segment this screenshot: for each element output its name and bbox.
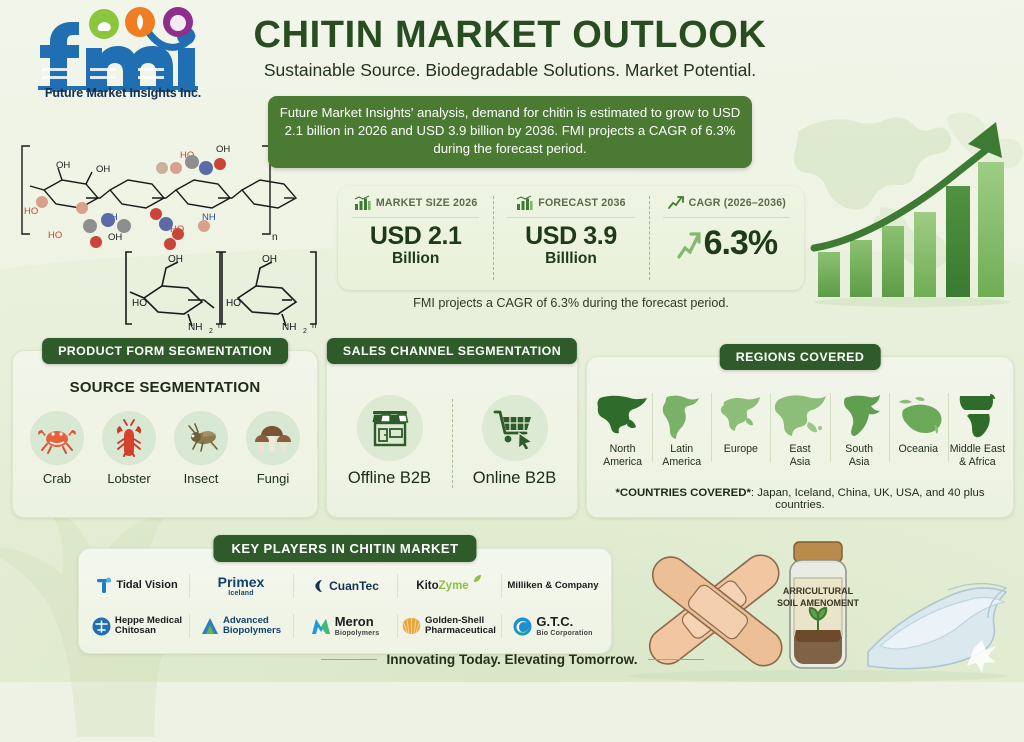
player-name: Heppe Medical Chitosan: [115, 616, 182, 637]
region-map-wrap: [594, 391, 651, 441]
source-list: Crab Lobster: [13, 411, 317, 486]
chart-bars: [818, 162, 1004, 297]
region-label: EastAsia: [771, 443, 828, 468]
countries-covered-value: : Japan, Iceland, China, UK, USA, and 40…: [751, 487, 985, 511]
stat-value-group: 6.3%: [655, 224, 798, 263]
bottle-label-line1: ARRICULTURAL: [783, 586, 854, 596]
region-item-latin-america[interactable]: LatinAmerica: [652, 391, 711, 468]
svg-text:n: n: [272, 232, 278, 243]
region-map-wrap: [831, 391, 888, 441]
regions-list: NorthAmerica LatinAmerica Europe: [593, 391, 1007, 468]
stat-value: USD 3.9: [499, 224, 642, 250]
region-item-middle-east-africa[interactable]: Middle East& Africa: [948, 391, 1007, 468]
tagline-rule-right: [648, 659, 704, 660]
region-item-europe[interactable]: Europe: [711, 391, 770, 468]
svg-text:OH: OH: [216, 144, 230, 155]
mushroom-icon: [253, 420, 293, 456]
region-item-south-asia[interactable]: SouthAsia: [830, 391, 889, 468]
panel-title-regions: REGIONS COVERED: [720, 344, 881, 370]
source-label: Crab: [24, 471, 90, 486]
region-map-wrap: [890, 391, 947, 441]
company-name: Future Market Insights Inc.: [28, 86, 218, 100]
svg-text:OH: OH: [168, 254, 183, 265]
insect-icon: [181, 422, 221, 454]
source-icon-wrap: [174, 411, 228, 465]
stat-unit: Billlion: [499, 250, 642, 268]
stat-header: CAGR (2026–2036): [663, 195, 790, 218]
region-label: Middle East& Africa: [949, 443, 1006, 468]
region-map-wrap: [712, 391, 769, 441]
svg-text:OH: OH: [108, 232, 122, 243]
tidal-vision-logo-icon: [96, 577, 112, 595]
player-tidal-vision[interactable]: Tidal Vision: [85, 567, 189, 605]
south-asia-map-icon: [838, 392, 880, 440]
summary-banner: Future Market Insights' analysis, demand…: [268, 96, 752, 168]
player-name: G.T.C.: [536, 615, 592, 629]
trend-up-arrow-icon: [667, 195, 684, 211]
crab-icon: [37, 421, 77, 455]
svg-text:HO: HO: [24, 206, 38, 217]
countries-covered-label: *COUNTRIES COVERED*: [615, 487, 750, 499]
heppe-logo-icon: [92, 617, 111, 636]
stat-card-market-size: MARKET SIZE 2026 USD 2.1 Billion: [338, 186, 493, 290]
source-segmentation-heading: SOURCE SEGMENTATION: [13, 379, 317, 396]
region-item-north-america[interactable]: NorthAmerica: [593, 391, 652, 468]
source-item-crab[interactable]: Crab: [24, 411, 90, 486]
source-item-fungi[interactable]: Fungi: [240, 411, 306, 486]
page-subtitle: Sustainable Source. Biodegradable Soluti…: [230, 60, 790, 81]
oceania-map-icon: [893, 394, 943, 438]
player-name: Meron: [335, 615, 380, 629]
channel-label: Online B2B: [452, 469, 577, 488]
sales-channel-segmentation-panel: SALES CHANNEL SEGMENTATION Offline B2B: [326, 350, 578, 518]
player-name: Primex: [218, 575, 265, 590]
gtc-logo-icon: [513, 617, 532, 636]
channel-icon-wrap: [482, 395, 548, 461]
source-item-lobster[interactable]: Lobster: [96, 411, 162, 486]
players-row-2: Heppe Medical Chitosan Advanced Biopolym…: [85, 607, 605, 645]
svg-text:NH: NH: [282, 322, 296, 333]
player-sub: Iceland: [218, 590, 265, 597]
stat-card-forecast: FORECAST 2036 USD 3.9 Billlion: [493, 186, 648, 290]
player-cuantec[interactable]: CuanTec: [293, 567, 397, 605]
countries-covered-note: *COUNTRIES COVERED*: Japan, Iceland, Chi…: [595, 487, 1005, 511]
player-name: KitoZyme: [416, 580, 468, 592]
header: Future Market Insights Inc. CHITIN MARKE…: [0, 0, 1024, 108]
player-sub: Bio Corporation: [536, 630, 592, 637]
meron-logo-icon: [311, 618, 331, 635]
tagline-rule-left: [321, 659, 377, 660]
source-item-insect[interactable]: Insect: [168, 411, 234, 486]
stats-cards: MARKET SIZE 2026 USD 2.1 Billion FORECAS…: [338, 186, 804, 290]
svg-text:HO: HO: [226, 298, 241, 309]
source-icon-wrap: [30, 411, 84, 465]
latin-america-map-icon: [661, 392, 703, 440]
channel-label: Offline B2B: [327, 469, 452, 488]
svg-text:OH: OH: [56, 160, 70, 171]
region-item-east-asia[interactable]: EastAsia: [770, 391, 829, 468]
stats-note: FMI projects a CAGR of 6.3% during the f…: [338, 296, 804, 310]
cuantec-logo-icon: [311, 578, 325, 594]
growth-arrow-icon: [676, 227, 702, 261]
supplement-bottle-icon: ARRICULTURAL SOIL AMENOMENT: [777, 542, 860, 668]
player-name: Tidal Vision: [116, 580, 177, 592]
growth-bar-chart-illustration: [808, 112, 1016, 312]
player-heppe-medical-chitosan[interactable]: Heppe Medical Chitosan: [85, 607, 189, 645]
regions-covered-panel: REGIONS COVERED NorthAmerica LatinAmeric…: [586, 356, 1014, 518]
key-players-panel: KEY PLAYERS IN CHITIN MARKET Tidal Visio…: [78, 548, 612, 654]
golden-shell-logo-icon: [402, 617, 421, 635]
lobster-icon: [112, 419, 146, 457]
player-kitozyme[interactable]: KitoZyme: [397, 567, 501, 605]
player-gtc[interactable]: G.T.C. Bio Corporation: [501, 607, 605, 645]
region-label: Oceania: [890, 443, 947, 456]
middle-east-africa-map-icon: [956, 392, 998, 440]
tagline-text: Innovating Today. Elevating Tomorrow.: [387, 652, 638, 667]
player-sub: Biopolymers: [335, 630, 380, 637]
advanced-biopolymers-logo-icon: [201, 617, 219, 635]
region-map-wrap: [653, 391, 710, 441]
channel-item-online[interactable]: Online B2B: [452, 395, 577, 488]
svg-text:NH: NH: [188, 322, 202, 333]
player-name: Advanced Biopolymers: [223, 616, 281, 637]
source-icon-wrap: [102, 411, 156, 465]
stat-label: CAGR (2026–2036): [689, 197, 786, 209]
bar-chart-icon: [516, 195, 533, 211]
svg-text:OH: OH: [96, 164, 110, 175]
panel-title-players: KEY PLAYERS IN CHITIN MARKET: [213, 535, 476, 562]
svg-text:OH: OH: [262, 254, 277, 265]
source-label: Insect: [168, 471, 234, 486]
player-name: Golden-Shell Pharmaceutical: [425, 616, 496, 637]
svg-text:n: n: [312, 321, 316, 330]
player-milliken[interactable]: Milliken & Company: [501, 567, 605, 605]
stat-value: 6.3%: [704, 224, 778, 263]
footer-tagline: Innovating Today. Elevating Tomorrow.: [0, 652, 1024, 667]
region-item-oceania[interactable]: Oceania: [889, 391, 948, 468]
source-icon-wrap: [246, 411, 300, 465]
storefront-icon: [368, 407, 412, 449]
europe-map-icon: [716, 394, 766, 438]
svg-text:2: 2: [303, 328, 307, 335]
player-name: Milliken & Company: [507, 581, 598, 591]
north-america-map-icon: [596, 392, 650, 440]
page-title: CHITIN MARKET OUTLOOK: [250, 16, 770, 56]
svg-text:HO: HO: [132, 298, 147, 309]
source-label: Lobster: [96, 471, 162, 486]
channel-list: Offline B2B Online B2B: [327, 395, 577, 488]
panel-title-sales: SALES CHANNEL SEGMENTATION: [327, 338, 577, 364]
channel-icon-wrap: [357, 395, 423, 461]
region-map-wrap: [771, 391, 828, 441]
stat-label: MARKET SIZE 2026: [376, 197, 478, 209]
shopping-cart-cursor-icon: [492, 407, 538, 449]
region-label: Europe: [712, 443, 769, 456]
svg-text:2: 2: [209, 328, 213, 335]
stat-header: MARKET SIZE 2026: [352, 195, 479, 218]
stat-value: USD 2.1: [344, 224, 487, 250]
svg-text:HO: HO: [48, 230, 62, 241]
stat-unit: Billion: [344, 250, 487, 268]
region-label: LatinAmerica: [653, 443, 710, 468]
player-primex[interactable]: Primex Iceland: [189, 567, 293, 605]
stat-header: FORECAST 2036: [507, 195, 634, 218]
player-meron[interactable]: Meron Biopolymers: [293, 607, 397, 645]
stat-card-cagr: CAGR (2026–2036) 6.3%: [649, 186, 804, 290]
bar-chart-icon: [354, 195, 371, 211]
player-name: CuanTec: [329, 580, 379, 593]
stat-label: FORECAST 2036: [538, 197, 625, 209]
leaf-accent-icon: [473, 574, 482, 583]
region-label: NorthAmerica: [594, 443, 651, 468]
source-label: Fungi: [240, 471, 306, 486]
players-row-1: Tidal Vision Primex Iceland CuanTec Kito…: [85, 567, 605, 605]
svg-text:n: n: [218, 321, 222, 330]
channel-item-offline[interactable]: Offline B2B: [327, 395, 452, 488]
product-form-segmentation-panel: PRODUCT FORM SEGMENTATION SOURCE SEGMENT…: [12, 350, 318, 518]
region-map-wrap: [949, 391, 1006, 441]
east-asia-map-icon: [774, 392, 826, 440]
player-golden-shell[interactable]: Golden-Shell Pharmaceutical: [397, 607, 501, 645]
player-advanced-biopolymers[interactable]: Advanced Biopolymers: [189, 607, 293, 645]
bottle-label-line2: SOIL AMENOMENT: [777, 598, 860, 608]
panel-title-product: PRODUCT FORM SEGMENTATION: [42, 338, 288, 364]
region-label: SouthAsia: [831, 443, 888, 468]
